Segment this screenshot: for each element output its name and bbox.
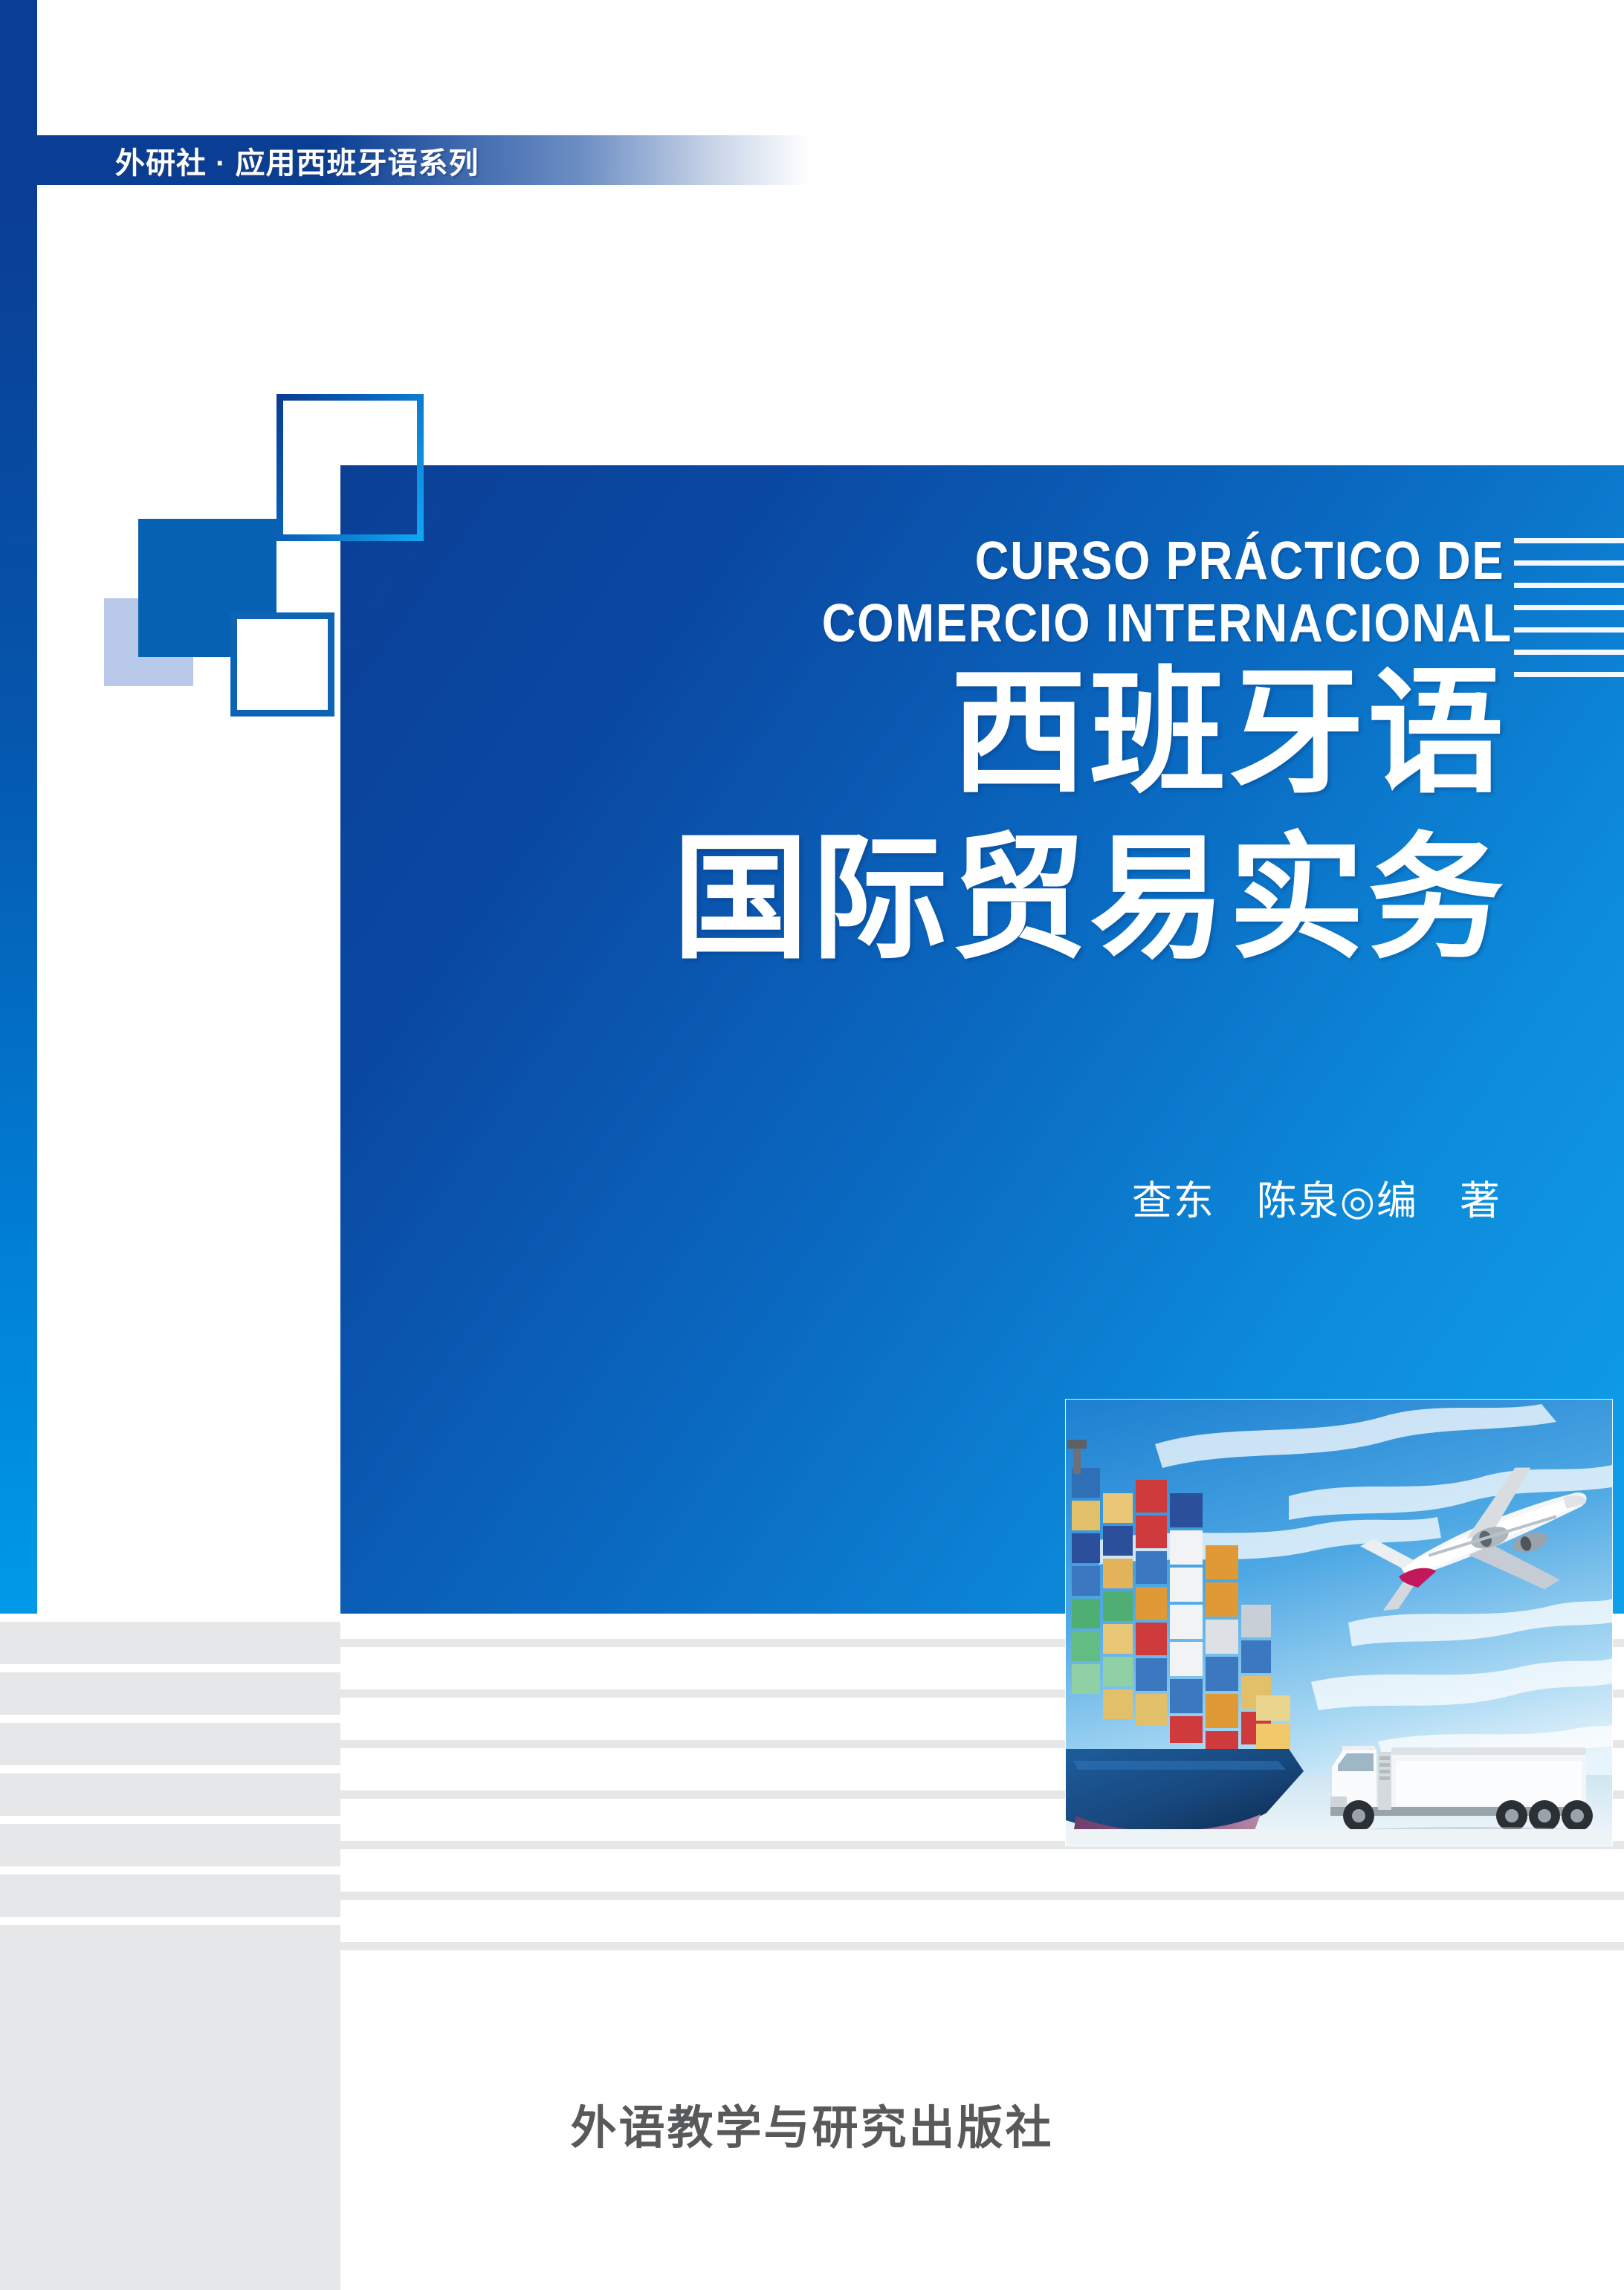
page-title: 西班牙语 国际贸易实务: [340, 650, 1507, 982]
small-outline-square-icon: [230, 612, 334, 717]
spanish-subtitle-line1: CURSO PRÁCTICO DE: [481, 531, 1513, 593]
decorative-rules: [1514, 538, 1624, 694]
stripe-gap: [0, 1816, 340, 1824]
page-title-line2: 国际贸易实务: [340, 815, 1507, 981]
book-cover: 外研社 · 应用西班牙语系列 CURSO PRÁCTICO DE COMERCI…: [0, 0, 1624, 2290]
rule-line: [1514, 672, 1624, 677]
gradient-outline-square-icon: [276, 394, 424, 541]
stripe-gap: [0, 1664, 340, 1672]
stripe-gap: [0, 1917, 340, 1925]
stripe-gap: [0, 1866, 340, 1875]
spanish-subtitle: CURSO PRÁCTICO DE COMERCIO INTERNACIONAL: [481, 531, 1513, 655]
series-banner-label: 外研社 · 应用西班牙语系列: [115, 139, 479, 182]
rule-line: [1514, 538, 1624, 543]
rule-line: [1514, 583, 1624, 588]
rule-line: [1514, 627, 1624, 633]
stripe-gap: [0, 1715, 340, 1723]
series-banner: 外研社 · 应用西班牙语系列: [0, 135, 810, 185]
publisher-name: 外语教学与研究出版社: [0, 2090, 1624, 2157]
author-line: 查东 陈泉◎编 著: [340, 1168, 1501, 1226]
rule-line: [1514, 560, 1624, 566]
spanish-subtitle-line2: COMERCIO INTERNACIONAL: [481, 593, 1513, 656]
stripe-gap: [0, 1765, 340, 1773]
page-title-line1: 西班牙语: [340, 650, 1507, 815]
stripe-left-column: [0, 1614, 340, 2290]
logistics-photo: [1066, 1400, 1612, 1846]
logistics-photo-illustration: [1066, 1400, 1612, 1846]
rule-line: [1514, 605, 1624, 610]
left-accent-stripe: [0, 0, 37, 1614]
rule-line: [1514, 650, 1624, 655]
stripe-line: [340, 1942, 1624, 1950]
stripe-gap: [0, 1614, 340, 1622]
stripe-line: [340, 1892, 1624, 1900]
